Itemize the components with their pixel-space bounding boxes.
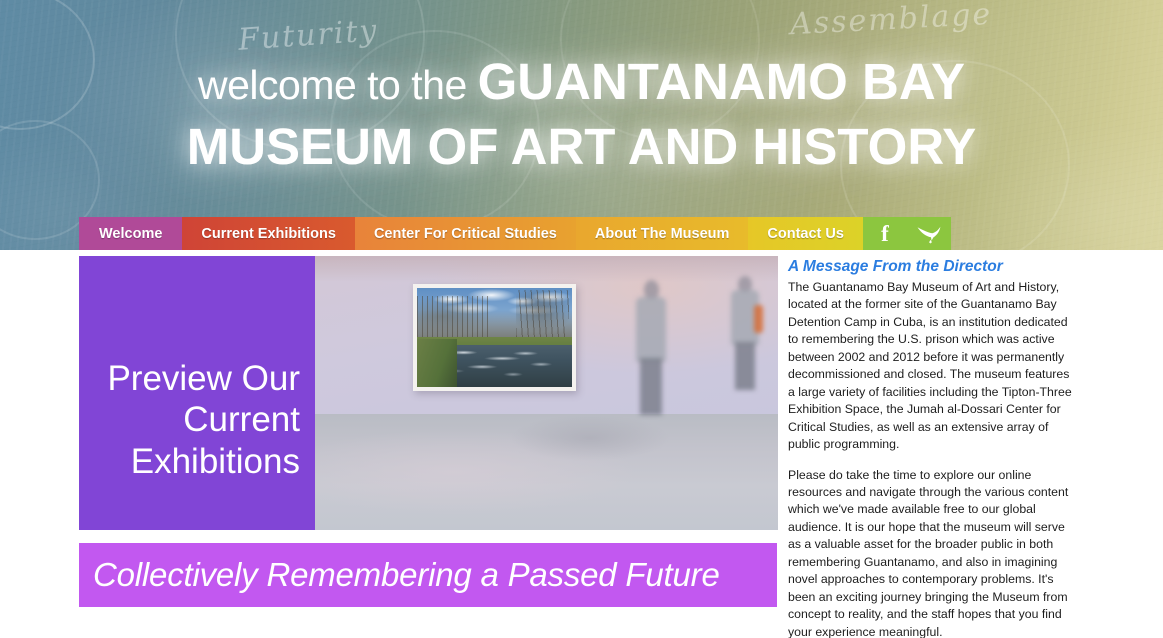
figure-orange-bag xyxy=(754,305,763,334)
page-root: Futurity Assemblage welcome to the GUANT… xyxy=(0,0,1163,638)
exhibition-title-banner[interactable]: Collectively Remembering a Passed Future xyxy=(79,543,777,607)
nav-item-contact-us[interactable]: Contact Us xyxy=(748,217,863,250)
preview-current-exhibitions-panel[interactable]: Preview Our Current Exhibitions xyxy=(79,256,315,530)
nav-item-center-for-critical-studies[interactable]: Center For Critical Studies xyxy=(355,217,576,250)
photo-wall-top-shadow xyxy=(315,256,778,282)
exhibition-title-text: Collectively Remembering a Passed Future xyxy=(79,556,720,594)
artwork-grass-bank xyxy=(417,339,457,387)
twitter-bird-icon[interactable] xyxy=(915,219,943,249)
facebook-icon[interactable]: f xyxy=(871,219,899,249)
masthead-title-part-2: MUSEUM OF ART AND HISTORY xyxy=(0,121,1163,172)
masthead: welcome to the GUANTANAMO BAY MUSEUM OF … xyxy=(0,56,1163,172)
director-message-heading: A Message From the Director xyxy=(788,258,1074,276)
photo-visitor-figure xyxy=(728,276,762,386)
photo-visitor-figure xyxy=(633,280,669,410)
artwork-trees-right xyxy=(516,290,569,340)
nav-item-welcome[interactable]: Welcome xyxy=(79,217,182,250)
facebook-glyph: f xyxy=(881,222,889,245)
nav-social-group: f xyxy=(863,217,951,250)
site-header: Futurity Assemblage welcome to the GUANT… xyxy=(0,0,1163,250)
preview-panel-label: Preview Our Current Exhibitions xyxy=(85,358,300,482)
artwork-trees-left xyxy=(417,296,488,342)
framed-artwork xyxy=(413,284,576,391)
director-message-column: A Message From the Director The Guantana… xyxy=(788,258,1074,638)
artwork-landscape-photograph xyxy=(417,288,572,387)
figure-torso xyxy=(636,297,666,362)
masthead-line-1: welcome to the GUANTANAMO BAY xyxy=(0,56,1163,107)
nav-item-current-exhibitions[interactable]: Current Exhibitions xyxy=(182,217,355,250)
gallery-hero-photo[interactable] xyxy=(315,256,778,530)
masthead-welcome-text: welcome to the xyxy=(198,62,478,108)
director-message-paragraph-2: Please do take the time to explore our o… xyxy=(788,467,1074,638)
main-navigation: Welcome Current Exhibitions Center For C… xyxy=(79,217,951,250)
masthead-title-part-1: GUANTANAMO BAY xyxy=(478,53,965,110)
figure-legs xyxy=(640,358,662,415)
photo-floor-shadow xyxy=(495,414,685,474)
figure-legs xyxy=(735,342,755,390)
nav-item-about-the-museum[interactable]: About The Museum xyxy=(576,217,749,250)
director-message-paragraph-1: The Guantanamo Bay Museum of Art and His… xyxy=(788,279,1074,454)
